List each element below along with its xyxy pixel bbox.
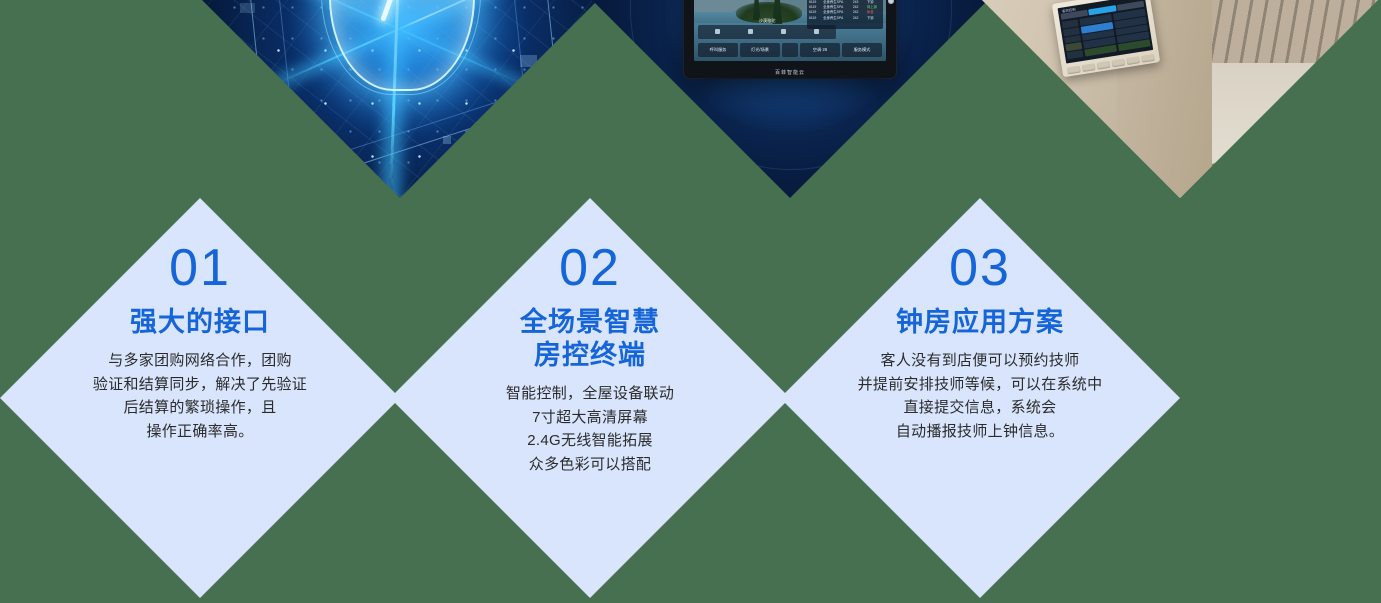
holographic-shield-circuit-image [202, 0, 598, 198]
media-control-bar[interactable] [698, 25, 836, 39]
card-1-number: 01 [169, 242, 231, 294]
service-mode-button[interactable]: 服务模式 [842, 43, 882, 57]
room-control-tablet[interactable]: CSI2WD 22:35 SPA6房 26°C 11/24 [684, 0, 896, 78]
volume-icon[interactable] [814, 29, 819, 34]
infographic-stage: 01 强大的接口 与多家团购网络合作，团购 验证和结算同步，解决了先验证 后结算… [0, 0, 1381, 603]
card-2-text-diamond: 02 全场景智慧 房控终端 智能控制，全屋设备联动 7寸超大高清屏幕 2.4G无… [390, 198, 790, 598]
grid-menu-icon[interactable] [782, 43, 798, 57]
lighting-scene-button[interactable]: 灯光/场景 [740, 43, 780, 57]
media-next-icon[interactable] [781, 29, 786, 34]
aircon-button[interactable]: 空调·26 [800, 43, 840, 57]
wall-panel-menu-left [1080, 14, 1118, 57]
card-3-body: 客人没有到店便可以预约技师 并提前安排技师等候，可以在系统中 直接提交信息，系统… [858, 349, 1103, 444]
camera-lens-icon [888, 0, 894, 4]
card-1-body: 与多家团购网络合作，团购 验证和结算同步，解决了先验证 后结算的繁琐操作，且 操… [93, 349, 307, 444]
smart-room-control-tablet-image: CSI2WD 22:35 SPA6房 26°C 11/24 [592, 0, 988, 198]
tablet-screen[interactable]: 22:35 SPA6房 26°C 11/24 技人 项目 时间 状态 [694, 0, 886, 61]
photo-plant-2 [1243, 102, 1353, 198]
wall-panel-menu-right [1113, 9, 1151, 52]
wall-panel-menu[interactable] [1080, 9, 1151, 57]
card-1-image-diamond [202, 0, 598, 198]
card-2-image-diamond: CSI2WD 22:35 SPA6房 26°C 11/24 [592, 0, 988, 198]
media-now-playing-label: 沙漠骆驼 [698, 18, 836, 24]
bottom-button-bar[interactable]: 呼叫服务 灯光/场景 空调·26 服务模式 [698, 43, 882, 57]
card-1-title: 强大的接口 [130, 306, 270, 339]
card-3-text-diamond: 03 钟房应用方案 客人没有到店便可以预约技师 并提前安排技师等候，可以在系统中… [780, 198, 1180, 598]
card-3-image-diamond: 客房控制 [982, 0, 1378, 198]
media-prev-icon[interactable] [715, 29, 720, 34]
card-1-text-diamond: 01 强大的接口 与多家团购网络合作，团购 验证和结算同步，解决了先验证 后结算… [0, 198, 400, 598]
call-service-button[interactable]: 呼叫服务 [698, 43, 738, 57]
card-2-body: 智能控制，全屋设备联动 7寸超大高清屏幕 2.4G无线智能拓展 众多色彩可以搭配 [506, 382, 674, 477]
media-play-icon[interactable] [748, 29, 753, 34]
wall-panel-screen[interactable]: 客房控制 [1058, 0, 1154, 64]
card-3-title: 钟房应用方案 [896, 306, 1064, 339]
tablet-footer-brand: 百菲智能云 [684, 69, 896, 76]
card-3-number: 03 [949, 242, 1011, 294]
wall-mounted-room-panel-photo: 客房控制 [982, 0, 1378, 198]
card-2-title: 全场景智慧 房控终端 [520, 306, 660, 372]
card-2-number: 02 [559, 242, 621, 294]
